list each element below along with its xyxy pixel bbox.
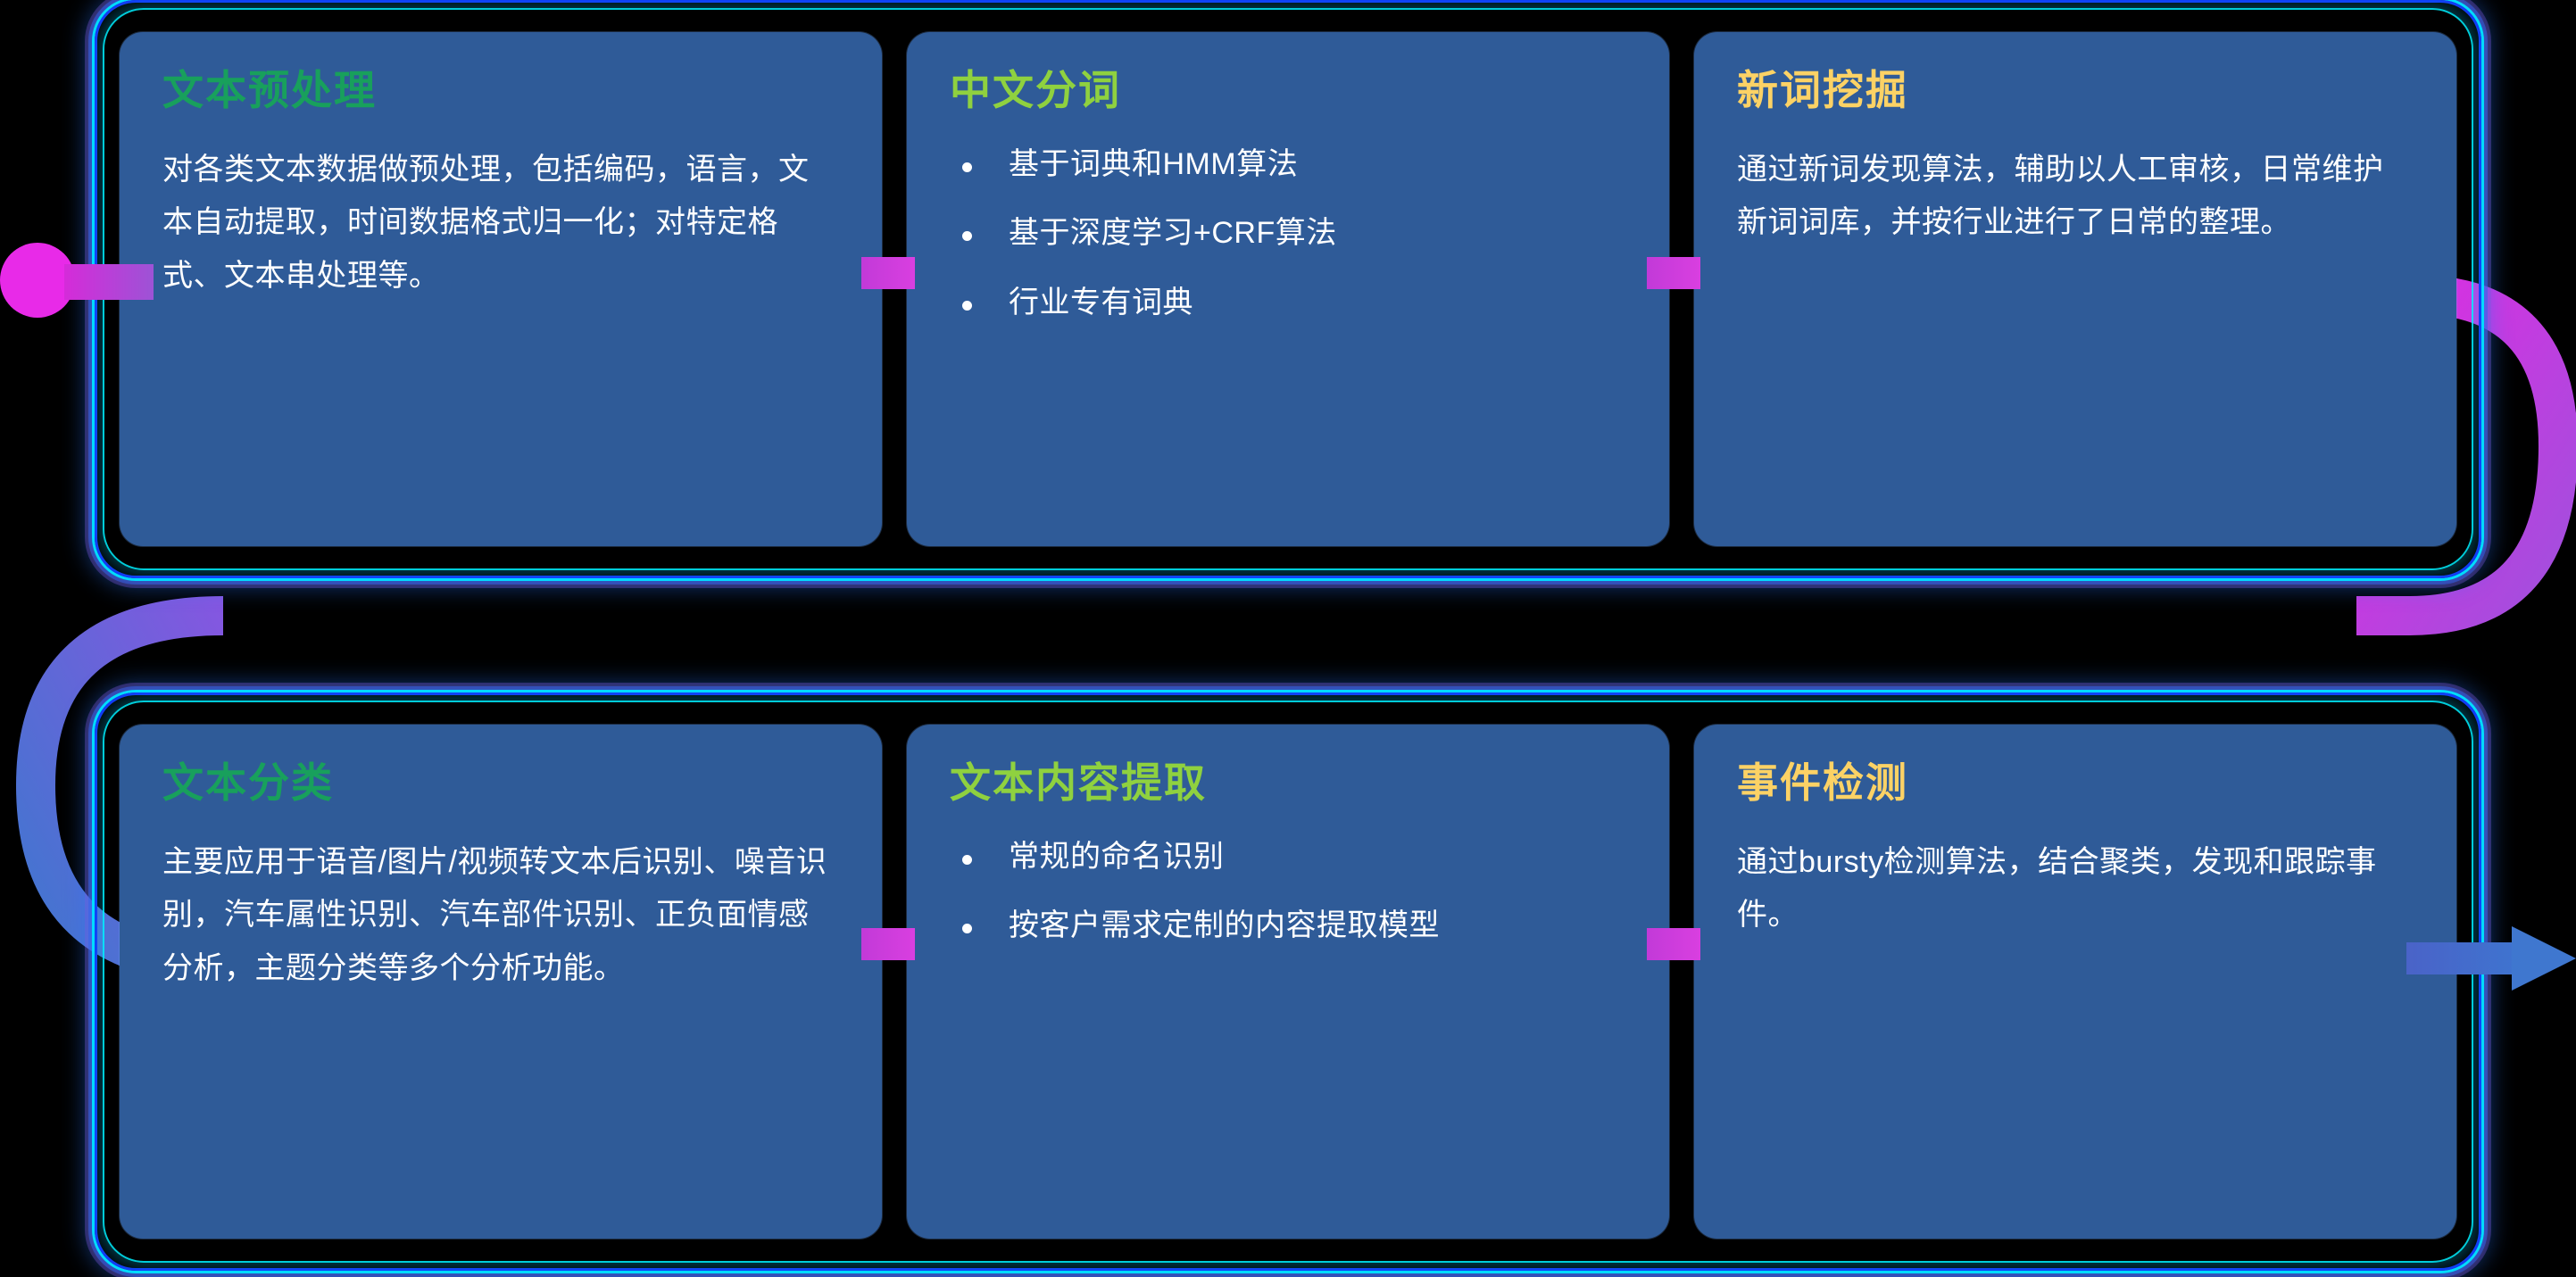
card-text-content-extraction[interactable]: 文本内容提取 常规的命名识别 按客户需求定制的内容提取模型 xyxy=(907,725,1669,1239)
link-card5-card6 xyxy=(1647,928,1700,960)
link-card2-card3 xyxy=(1647,257,1700,289)
list-item: 常规的命名识别 xyxy=(950,836,1626,879)
card-title: 事件检测 xyxy=(1737,760,2414,806)
card-title: 新词挖掘 xyxy=(1737,68,2414,113)
start-node-stem xyxy=(64,264,154,300)
card-body: 主要应用于语音/图片/视频转文本后识别、噪音识别，汽车属性识别、汽车部件识别、正… xyxy=(162,836,839,996)
list-item-label: 行业专有词典 xyxy=(1009,286,1193,319)
bottom-row: 文本分类 主要应用于语音/图片/视频转文本后识别、噪音识别，汽车属性识别、汽车部… xyxy=(107,705,2469,1258)
list-item-label: 基于词典和HMM算法 xyxy=(1009,147,1298,181)
list-item-label: 基于深度学习+CRF算法 xyxy=(1009,216,1337,250)
end-arrow-head xyxy=(2512,926,2576,991)
list-item: 基于词典和HMM算法 xyxy=(950,144,1626,187)
bullet-dot xyxy=(962,855,972,865)
card-text-classification[interactable]: 文本分类 主要应用于语音/图片/视频转文本后识别、噪音识别，汽车属性识别、汽车部… xyxy=(120,725,882,1239)
end-arrow-shaft xyxy=(2406,942,2514,974)
bullet-dot xyxy=(962,231,972,241)
card-title: 文本分类 xyxy=(162,760,839,806)
list-item-label: 按客户需求定制的内容提取模型 xyxy=(1009,908,1440,942)
card-bullet-list: 常规的命名识别 按客户需求定制的内容提取模型 xyxy=(950,836,1626,948)
card-bullet-list: 基于词典和HMM算法 基于深度学习+CRF算法 行业专有词典 xyxy=(950,144,1626,325)
card-body: 通过新词发现算法，辅助以人工审核，日常维护新词词库，并按行业进行了日常的整理。 xyxy=(1737,144,2414,250)
card-text-preprocessing[interactable]: 文本预处理 对各类文本数据做预处理，包括编码，语言，文本自动提取，时间数据格式归… xyxy=(120,32,882,546)
link-card4-card5 xyxy=(861,928,915,960)
card-event-detection[interactable]: 事件检测 通过bursty检测算法，结合聚类，发现和跟踪事件。 xyxy=(1694,725,2456,1239)
card-body: 对各类文本数据做预处理，包括编码，语言，文本自动提取，时间数据格式归一化；对特定… xyxy=(162,144,839,303)
bullet-dot xyxy=(962,301,972,311)
top-row: 文本预处理 对各类文本数据做预处理，包括编码，语言，文本自动提取，时间数据格式归… xyxy=(107,12,2469,566)
list-item-label: 常规的命名识别 xyxy=(1009,840,1225,874)
list-item: 行业专有词典 xyxy=(950,282,1626,325)
list-item: 按客户需求定制的内容提取模型 xyxy=(950,905,1626,948)
link-card1-card2 xyxy=(861,257,915,289)
card-title: 文本预处理 xyxy=(162,68,839,113)
bullet-dot xyxy=(962,924,972,933)
card-body: 通过bursty检测算法，结合聚类，发现和跟踪事件。 xyxy=(1737,836,2414,942)
list-item: 基于深度学习+CRF算法 xyxy=(950,212,1626,255)
card-title: 文本内容提取 xyxy=(950,760,1626,806)
bullet-dot xyxy=(962,162,972,172)
card-chinese-word-segmentation[interactable]: 中文分词 基于词典和HMM算法 基于深度学习+CRF算法 行业专有词典 xyxy=(907,32,1669,546)
card-title: 中文分词 xyxy=(950,68,1626,113)
card-new-word-discovery[interactable]: 新词挖掘 通过新词发现算法，辅助以人工审核，日常维护新词词库，并按行业进行了日常… xyxy=(1694,32,2456,546)
